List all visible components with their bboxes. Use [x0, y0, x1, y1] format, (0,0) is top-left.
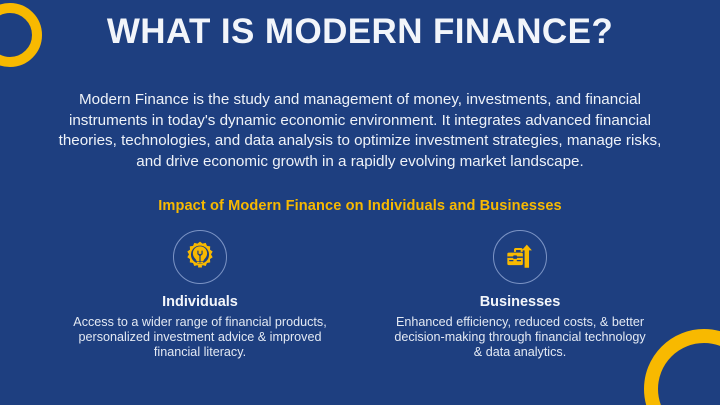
- briefcase-growth-arrow-icon: [493, 230, 547, 284]
- column-title: Businesses: [480, 294, 561, 310]
- column-businesses: Businesses Enhanced efficiency, reduced …: [374, 230, 666, 360]
- column-title: Individuals: [162, 294, 238, 310]
- column-body: Enhanced efficiency, reduced costs, & be…: [393, 315, 648, 360]
- slide-intro-paragraph: Modern Finance is the study and manageme…: [44, 90, 676, 172]
- column-body: Access to a wider range of financial pro…: [73, 315, 328, 360]
- presentation-slide: WHAT IS MODERN FINANCE? Modern Finance i…: [0, 0, 720, 405]
- lightbulb-gear-icon: [173, 230, 227, 284]
- column-individuals: Individuals Access to a wider range of f…: [54, 230, 346, 360]
- slide-subheading: Impact of Modern Finance on Individuals …: [0, 198, 720, 214]
- column-spacer: [346, 230, 374, 360]
- slide-title: WHAT IS MODERN FINANCE?: [0, 13, 720, 52]
- impact-columns: Individuals Access to a wider range of f…: [40, 230, 680, 360]
